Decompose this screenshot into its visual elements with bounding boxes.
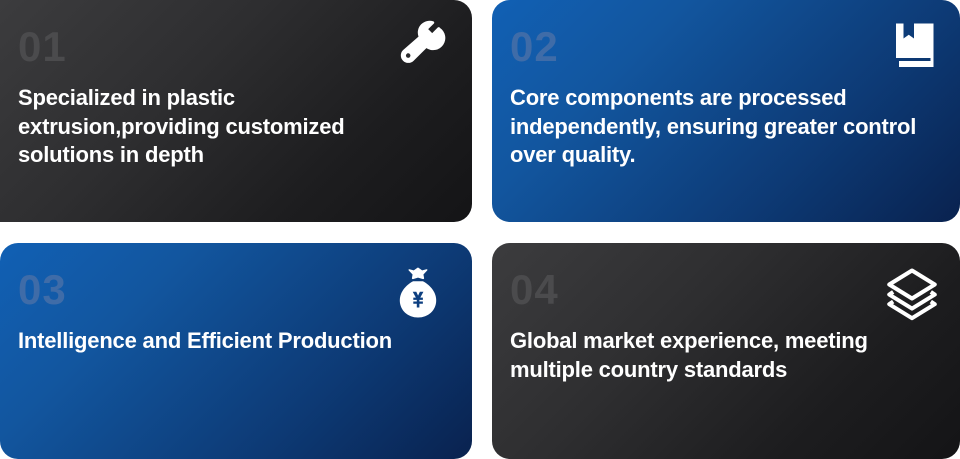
card-text: Global market experience, meeting multip… xyxy=(510,327,930,384)
feature-card-02[interactable]: 02 Core components are processed indepen… xyxy=(492,0,960,222)
feature-card-04[interactable]: 04 Global market experience, meeting mul… xyxy=(492,243,960,459)
card-number: 01 xyxy=(18,26,442,68)
card-number: 03 xyxy=(18,269,442,311)
feature-card-03[interactable]: 03 Intelligence and Efficient Production xyxy=(0,243,472,459)
card-number: 04 xyxy=(510,269,930,311)
card-text: Specialized in plastic extrusion,providi… xyxy=(18,84,442,170)
card-number: 02 xyxy=(510,26,930,68)
card-text: Core components are processed independen… xyxy=(510,84,930,170)
feature-card-01[interactable]: 01 Specialized in plastic extrusion,prov… xyxy=(0,0,472,222)
feature-card-grid: 01 Specialized in plastic extrusion,prov… xyxy=(0,0,960,459)
card-text: Intelligence and Efficient Production xyxy=(18,327,442,356)
